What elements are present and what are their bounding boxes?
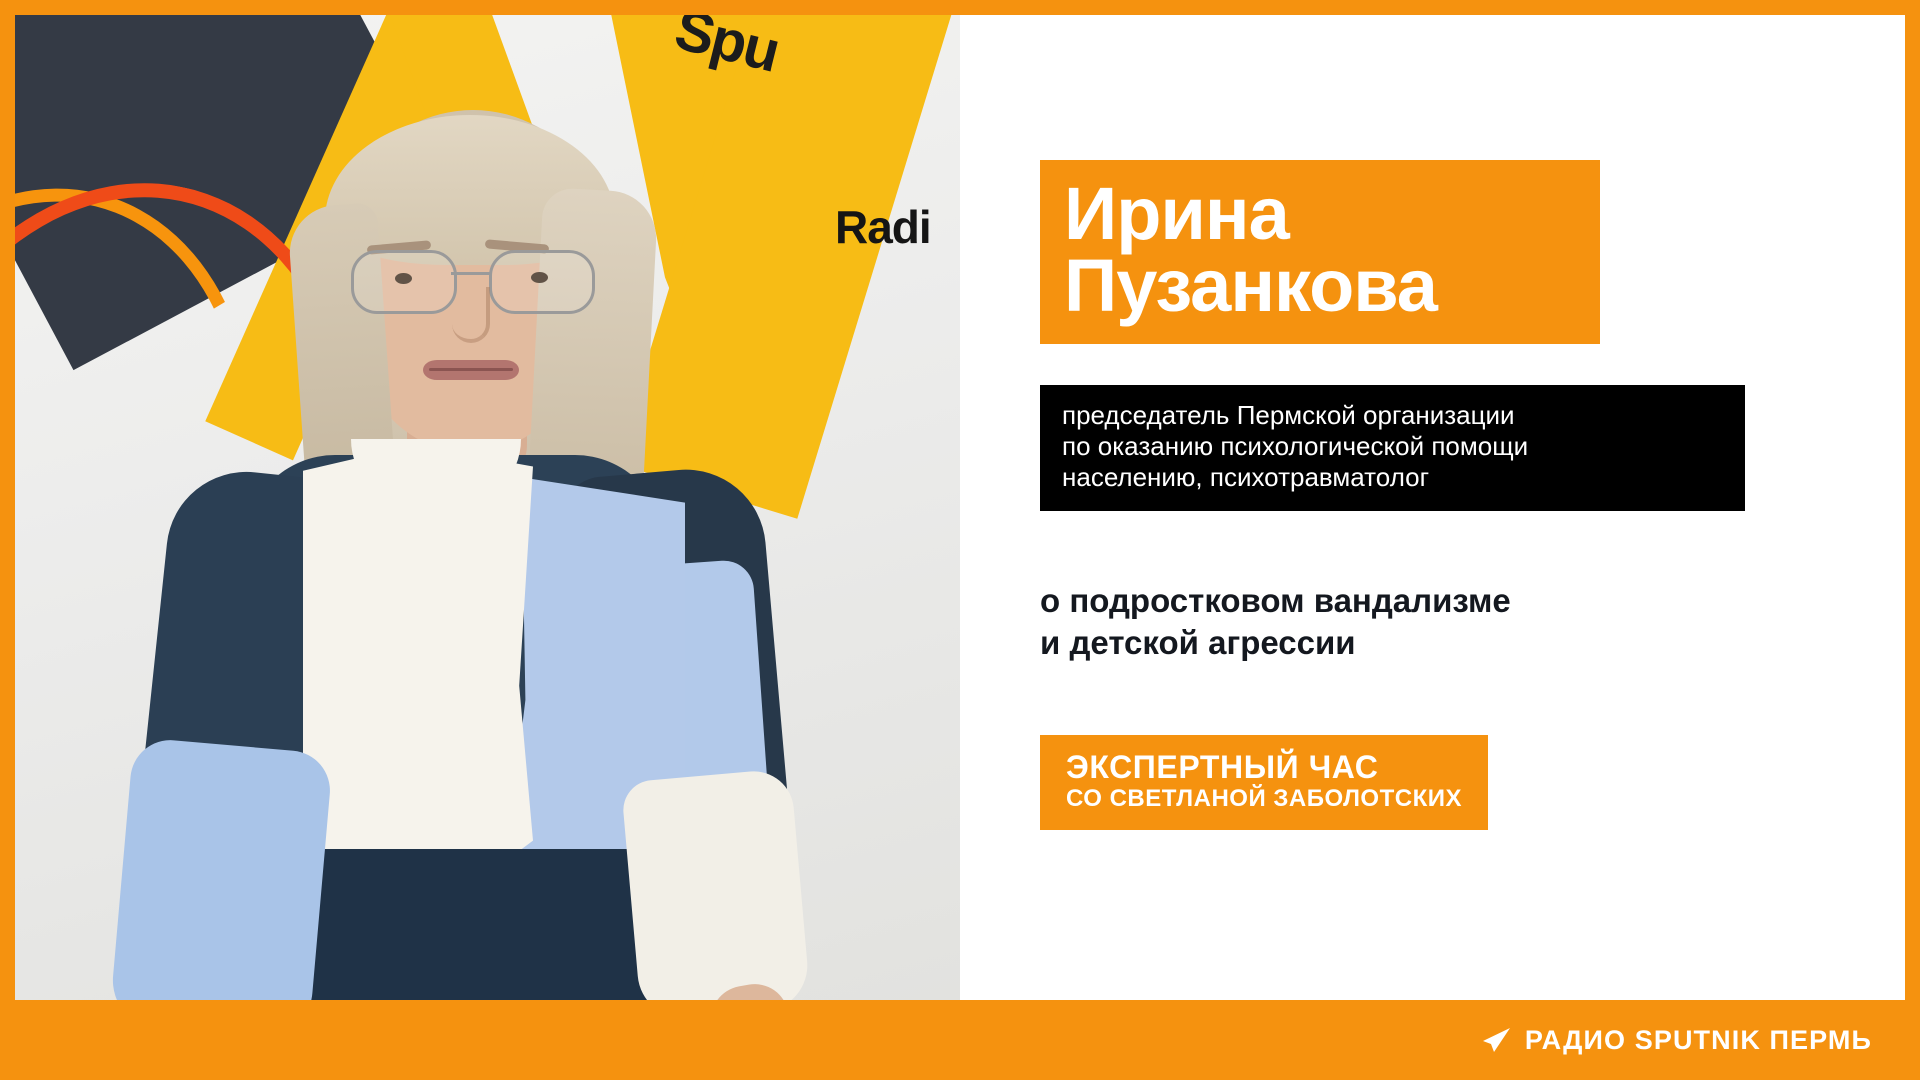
guest-role-block: председатель Пермской организации по ока… xyxy=(1040,385,1745,511)
play-arrow-icon xyxy=(1481,1027,1511,1053)
episode-topic-line-1: о подростковом вандализме xyxy=(1040,580,1800,622)
brand-name: РАДИО SPUTNIK ПЕРМЬ xyxy=(1525,1025,1872,1056)
sweater-sleeve-right-white xyxy=(621,768,811,1000)
episode-topic-line-2: и детской агрессии xyxy=(1040,622,1800,664)
guest-last-name: Пузанкова xyxy=(1064,250,1576,322)
glasses-bridge xyxy=(451,272,491,275)
guest-first-name: Ирина xyxy=(1064,178,1576,250)
guest-role-line-3: населению, психотравматолог xyxy=(1062,462,1723,493)
sweater-chest-white xyxy=(303,445,533,875)
guest-name-block: Ирина Пузанкова xyxy=(1040,160,1600,344)
guest-role-line-2: по оказанию психологической помощи xyxy=(1062,431,1723,462)
nose xyxy=(452,287,490,343)
guest-portrait xyxy=(15,15,960,1000)
glasses-lens-right xyxy=(489,250,595,314)
glasses-lens-left xyxy=(351,250,457,314)
brand-lockup: РАДИО SPUTNIK ПЕРМЬ xyxy=(1481,1025,1872,1056)
episode-topic: о подростковом вандализме и детской агре… xyxy=(1040,580,1800,664)
mouth xyxy=(423,360,519,380)
broadcast-announcement-card: Spu Radi xyxy=(0,0,1920,1080)
guest-photo: Spu Radi xyxy=(15,15,960,1000)
info-panel: Ирина Пузанкова председатель Пермской ор… xyxy=(960,15,1905,1000)
show-title: ЭКСПЕРТНЫЙ ЧАС xyxy=(1066,751,1462,785)
show-host: СО СВЕТЛАНОЙ ЗАБОЛОТСКИХ xyxy=(1066,785,1462,813)
sweater-sleeve-left-blue xyxy=(109,737,334,1000)
guest-role-line-1: председатель Пермской организации xyxy=(1062,400,1723,431)
show-badge: ЭКСПЕРТНЫЙ ЧАС СО СВЕТЛАНОЙ ЗАБОЛОТСКИХ xyxy=(1040,735,1488,830)
sweater xyxy=(75,445,835,1000)
footer-bar: РАДИО SPUTNIK ПЕРМЬ xyxy=(0,1000,1920,1080)
